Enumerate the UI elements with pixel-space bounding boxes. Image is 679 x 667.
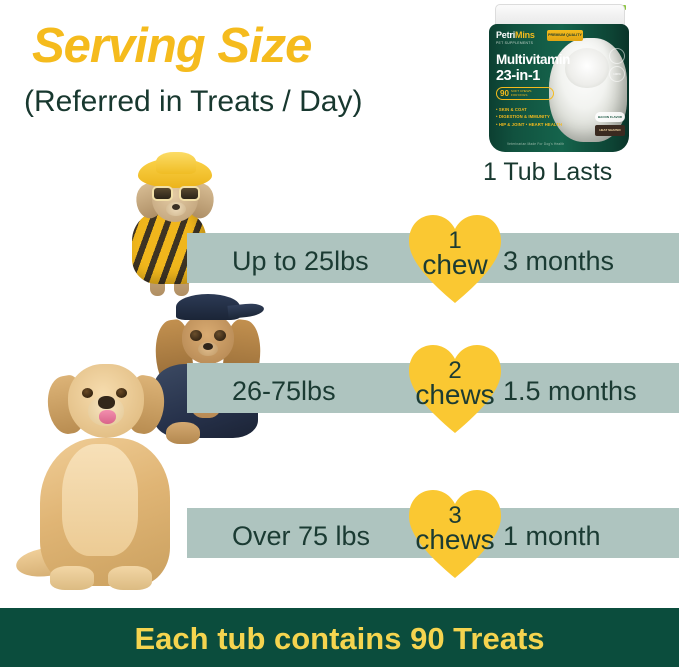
serving-row-2-unit: chews xyxy=(409,381,501,409)
retriever-tongue xyxy=(99,410,116,424)
serving-row-1-unit: chew xyxy=(409,251,501,279)
serving-row-3-heart: 3 chews xyxy=(409,490,501,578)
chihuahua-nose xyxy=(172,204,180,210)
serving-row-3-duration: 1 month xyxy=(503,521,601,552)
tub-body: PetriMins PET SUPPLEMENTS PREMIUM QUALIT… xyxy=(489,24,629,152)
page-subtitle: (Referred in Treats / Day) xyxy=(24,85,362,119)
tub-brand-label: PetriMins xyxy=(496,30,535,40)
cavalier-eye-left xyxy=(190,330,202,341)
retriever-eye-left xyxy=(82,388,93,398)
tub-count-number: 90 xyxy=(500,90,509,98)
serving-row-2-duration: 1.5 months xyxy=(503,376,637,407)
serving-row-1-heart: 1 chew xyxy=(409,215,501,303)
tub-flavor-badge: BACON FLAVOR xyxy=(595,112,625,122)
tub-product-name-line2: 23-in-1 xyxy=(496,68,540,84)
serving-row-1-weight: Up to 25lbs xyxy=(232,246,369,277)
infographic-root: Serving Size (Referred in Treats / Day) … xyxy=(0,0,679,667)
tub-quality-badge: PREMIUM QUALITY xyxy=(547,30,583,41)
retriever-eye-right xyxy=(116,388,127,398)
serving-row-3-weight: Over 75 lbs xyxy=(232,521,370,552)
tub-product-name-line1: Multivitamin xyxy=(496,52,570,67)
tub-seal-icon xyxy=(609,48,625,64)
retriever-nose xyxy=(98,396,115,409)
cavalier-nose xyxy=(203,343,213,350)
tub-lasts-heading: 1 Tub Lasts xyxy=(483,158,612,187)
tub-bullet-1: • DIGESTION & IMMUNITY xyxy=(496,113,562,120)
footer-banner-text: Each tub contains 90 Treats xyxy=(0,621,679,657)
dog-photo-golden-retriever xyxy=(16,352,206,604)
page-title: Serving Size xyxy=(32,18,311,74)
chihuahua-sunglasses xyxy=(152,186,200,201)
tub-shape-badge: HEAT SHAPED xyxy=(595,125,625,136)
serving-row-3-unit: chews xyxy=(409,526,501,554)
tub-bullet-2: • HIP & JOINT • HEART HEALTH xyxy=(496,121,562,128)
retriever-paw-right xyxy=(108,566,152,590)
chihuahua-hat-crown xyxy=(156,152,196,174)
cavalier-cap-brim xyxy=(227,302,264,319)
product-tub-image: PetriMins PET SUPPLEMENTS PREMIUM QUALIT… xyxy=(487,4,632,156)
serving-row-2-heart: 2 chews xyxy=(409,345,501,433)
tub-bullet-0: • SKIN & COAT xyxy=(496,106,562,113)
retriever-chest xyxy=(62,444,138,556)
tub-percent-seal-icon: 100% xyxy=(609,66,625,82)
serving-row-1-duration: 3 months xyxy=(503,246,614,277)
tub-count-badge: 90 SOFT CHEWSFOR DOGS xyxy=(496,87,554,100)
tub-footer-note: Veterinarian Made For Dog's Health xyxy=(507,142,564,146)
tub-count-label: SOFT CHEWSFOR DOGS xyxy=(511,90,532,97)
cavalier-eye-right xyxy=(214,330,226,341)
retriever-paw-left xyxy=(50,566,94,590)
tub-brand-sub-label: PET SUPPLEMENTS xyxy=(496,41,533,45)
footer-banner: Each tub contains 90 Treats xyxy=(0,608,679,667)
tub-benefit-bullets: • SKIN & COAT • DIGESTION & IMMUNITY • H… xyxy=(496,106,562,128)
serving-row-2-weight: 26-75lbs xyxy=(232,376,336,407)
